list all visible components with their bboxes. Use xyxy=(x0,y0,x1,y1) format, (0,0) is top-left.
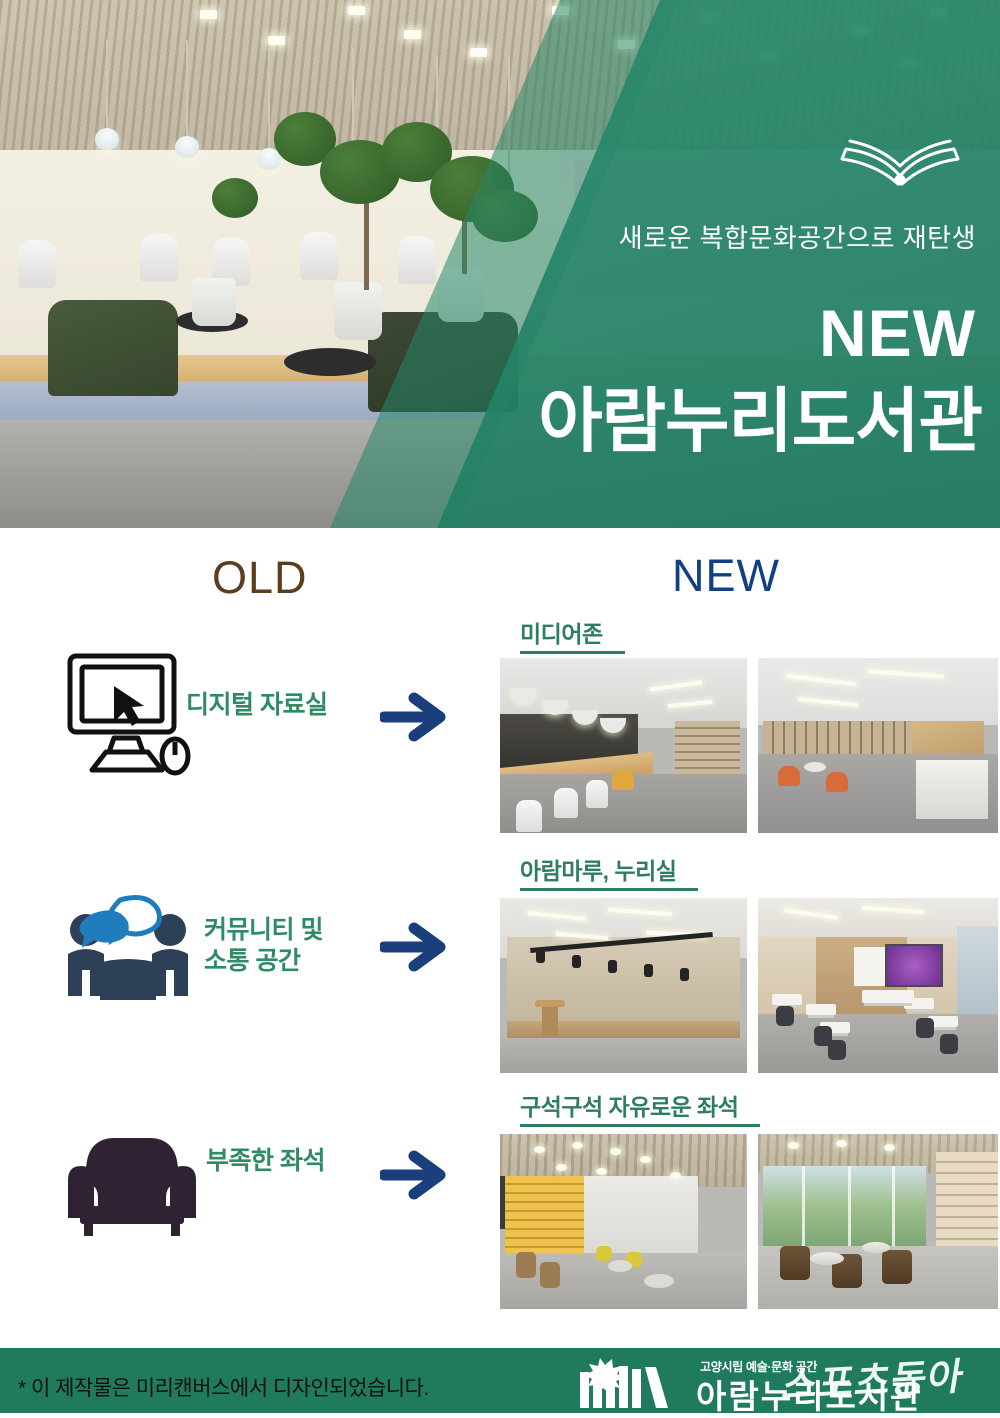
photo-performance-hall xyxy=(500,898,747,1073)
old-label-row1: 디지털 자료실 xyxy=(186,690,327,721)
right-arrow-icon xyxy=(380,920,452,974)
book-spines-splash-icon xyxy=(578,1356,690,1408)
zone-title-row3: 구석구석 자유로운 좌석 xyxy=(520,1088,738,1127)
hero-title: 아람누리도서관 xyxy=(122,385,982,459)
photo-media-zone-a xyxy=(500,658,747,833)
community-meeting-people-icon xyxy=(58,890,198,1010)
chair xyxy=(300,232,338,280)
column-heading-new: NEW xyxy=(672,550,780,602)
hero-banner: 새로운 복합문화공간으로 재탄생 NEW 아람누리도서관 xyxy=(0,0,1000,528)
open-book-icon xyxy=(836,128,964,190)
pendant-lamp xyxy=(186,40,188,138)
armchair xyxy=(48,300,178,396)
old-label-row2: 커뮤니티 및 소통 공간 xyxy=(204,915,323,976)
hero-new-label: NEW xyxy=(276,300,976,366)
ceiling-light xyxy=(268,36,285,45)
old-label-row2-line1: 커뮤니티 및 xyxy=(204,916,323,944)
chair xyxy=(18,240,56,288)
desktop-computer-cursor-icon xyxy=(62,652,192,777)
library-logo: 고양시립 예술·문화 공간 아람누리도서관 스포츠동아 xyxy=(578,1352,986,1410)
photo-media-zone-b xyxy=(758,658,998,833)
old-label-row2-line2: 소통 공간 xyxy=(204,947,300,975)
footer-disclaimer: * 이 제작물은 미리캔버스에서 디자인되었습니다. xyxy=(18,1372,429,1402)
photo-window-side-seats xyxy=(758,1134,998,1309)
ceiling-light xyxy=(348,6,365,15)
zone-title-row2: 아람마루, 누리실 xyxy=(520,852,676,891)
photo-lounge-colorful-shelves xyxy=(500,1134,747,1309)
right-arrow-icon xyxy=(380,690,452,744)
hero-subtitle: 새로운 복합문화공간으로 재탄생 xyxy=(356,218,976,255)
ceiling-light xyxy=(470,48,487,57)
zone-title-row1: 미디어존 xyxy=(520,615,603,654)
column-heading-old: OLD xyxy=(212,552,308,604)
pendant-lamp xyxy=(268,48,270,150)
planter xyxy=(192,278,236,326)
ceiling-light xyxy=(404,30,421,39)
pendant-lamp xyxy=(106,40,108,130)
chair xyxy=(140,234,178,282)
ceiling-light xyxy=(200,10,217,19)
right-arrow-icon xyxy=(380,1148,452,1202)
plant-foliage xyxy=(212,178,258,218)
armchair-sofa-icon xyxy=(62,1128,202,1240)
photo-seminar-room xyxy=(758,898,998,1073)
press-watermark: 스포츠동아 xyxy=(779,1345,969,1409)
old-label-row3: 부족한 좌석 xyxy=(206,1146,325,1177)
